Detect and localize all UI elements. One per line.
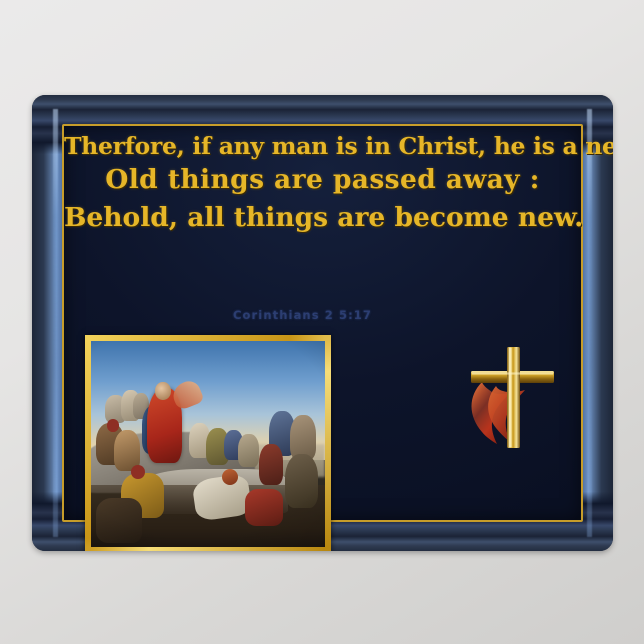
scripture-citation: Corinthians 2 5:17: [64, 308, 581, 322]
painting-frame: [85, 335, 331, 551]
painting-vignette: [91, 341, 325, 547]
cross-highlight-vertical: [509, 348, 512, 447]
cross-vertical-shaft: [507, 347, 520, 448]
frame-gloss-left: [53, 109, 58, 537]
poster-canvas: Therfore, if any man is in Christ, he is…: [62, 124, 583, 522]
sermon-on-the-mount-painting: [91, 341, 325, 547]
cross-highlight-horizontal: [472, 372, 553, 374]
verse-line-1: Therfore, if any man is in Christ, he is…: [64, 132, 581, 160]
poster: Therfore, if any man is in Christ, he is…: [32, 95, 613, 551]
verse-line-3: Behold, all things are become new.: [64, 200, 581, 236]
frame-gloss-right: [587, 109, 592, 537]
verse-line-2: Old things are passed away :: [64, 160, 581, 200]
verse-text-block: Therfore, if any man is in Christ, he is…: [64, 132, 581, 235]
cross-and-flame-icon: [452, 340, 564, 454]
